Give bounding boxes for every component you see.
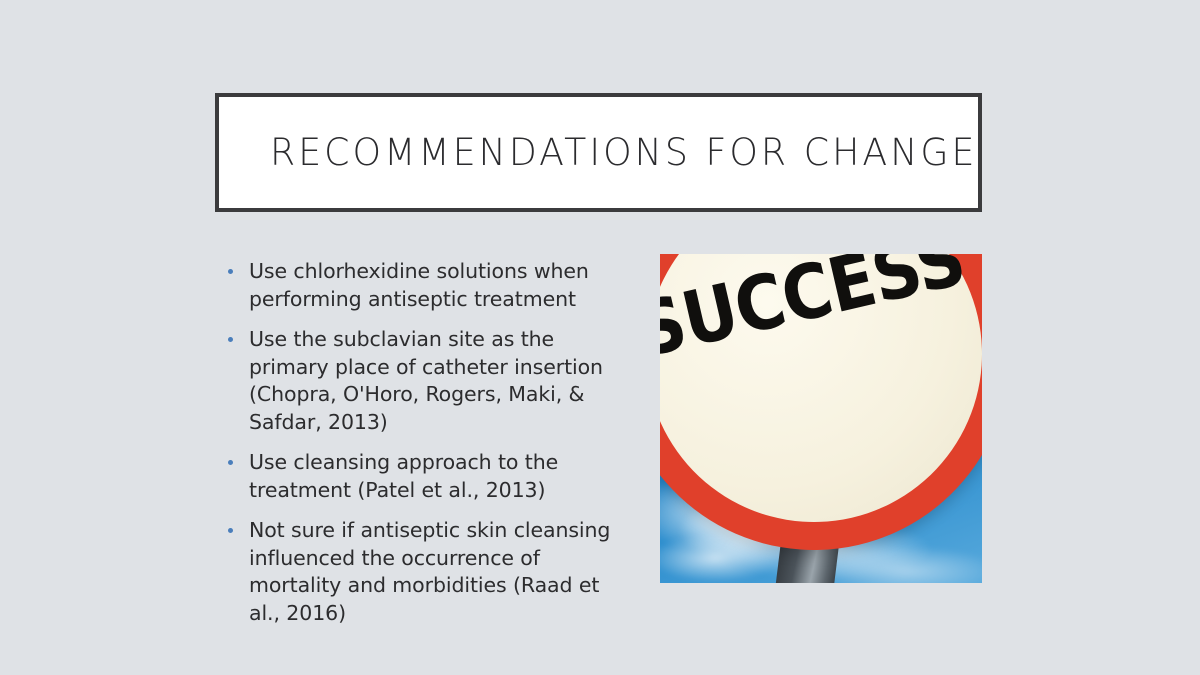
list-item: Not sure if antiseptic skin cleansing in…	[226, 517, 626, 627]
sign-label: SUCCESS	[660, 254, 973, 369]
bullet-dot-icon	[228, 337, 233, 342]
bullet-dot-icon	[228, 528, 233, 533]
slide-title-box: RECOMMENDATIONS FOR CHANGE	[215, 93, 982, 212]
bullet-dot-icon	[228, 269, 233, 274]
list-item-text: Use the subclavian site as the primary p…	[249, 327, 603, 434]
list-item: Use the subclavian site as the primary p…	[226, 326, 626, 436]
list-item: Use cleansing approach to the treatment …	[226, 449, 626, 504]
list-item: Use chlorhexidine solutions when perform…	[226, 258, 626, 313]
list-item-text: Use cleansing approach to the treatment …	[249, 450, 558, 502]
bullet-list: Use chlorhexidine solutions when perform…	[226, 258, 626, 627]
list-item-text: Not sure if antiseptic skin cleansing in…	[249, 518, 610, 625]
list-item-text: Use chlorhexidine solutions when perform…	[249, 259, 589, 311]
success-sign-image: SUCCESS	[660, 254, 982, 583]
bullet-dot-icon	[228, 460, 233, 465]
presentation-slide: RECOMMENDATIONS FOR CHANGE Use chlorhexi…	[0, 0, 1200, 675]
page-title: RECOMMENDATIONS FOR CHANGE	[219, 131, 977, 174]
